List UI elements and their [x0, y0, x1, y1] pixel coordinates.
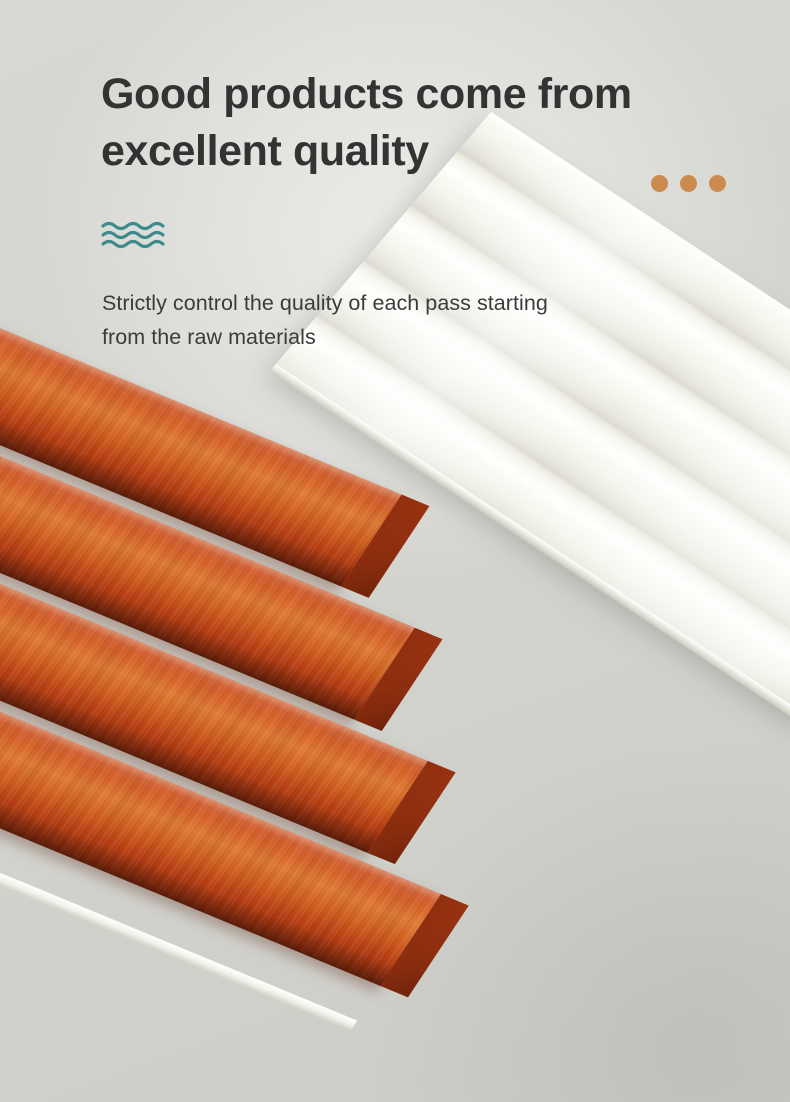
page-subtitle: Strictly control the quality of each pas…	[102, 286, 677, 354]
decorative-dots	[651, 175, 726, 192]
promo-banner: Good products come from excellent qualit…	[0, 0, 790, 1102]
page-title: Good products come from excellent qualit…	[101, 66, 721, 180]
dot-icon	[651, 175, 668, 192]
wave-lines-icon	[101, 220, 171, 252]
dot-icon	[709, 175, 726, 192]
dot-icon	[680, 175, 697, 192]
